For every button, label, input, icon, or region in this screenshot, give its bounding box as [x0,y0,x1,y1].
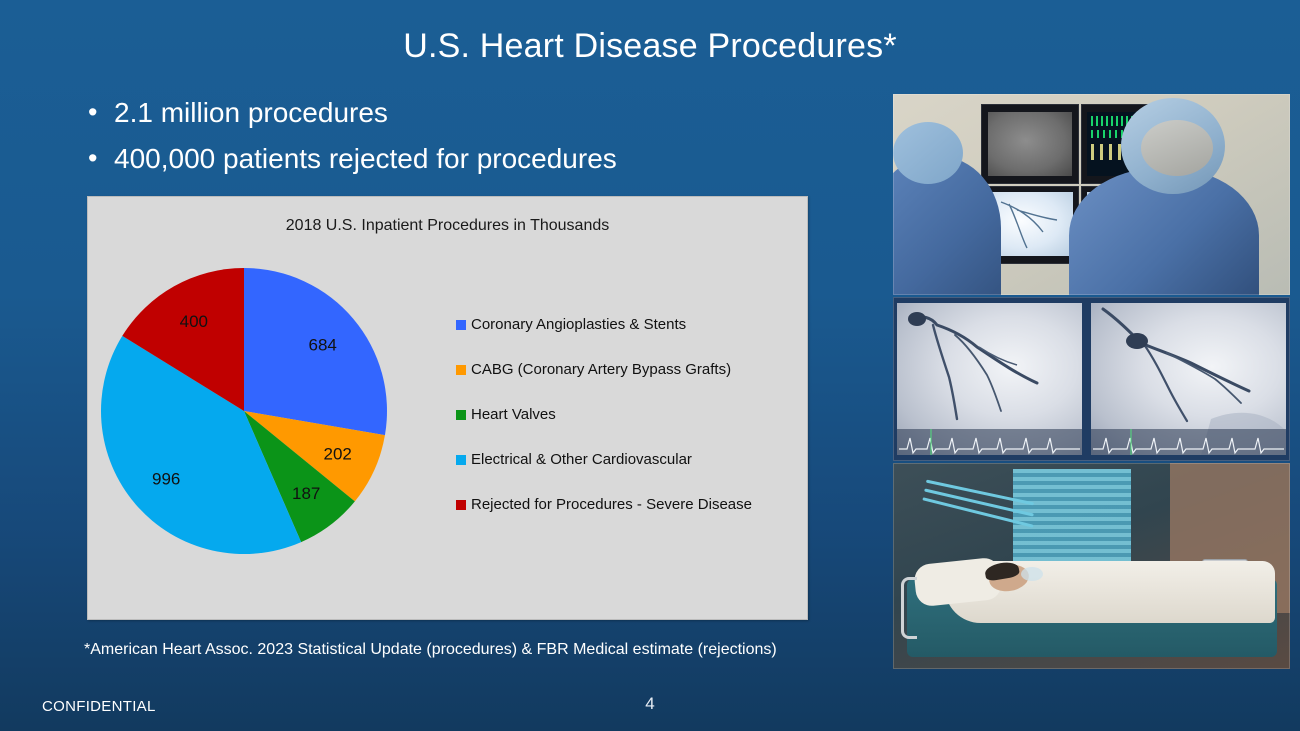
legend-label: CABG (Coronary Artery Bypass Grafts) [471,361,731,378]
oxygen-mask-icon [1021,567,1043,581]
page-number: 4 [0,694,1300,714]
chart-footnote: *American Heart Assoc. 2023 Statistical … [84,641,777,659]
ecg-waveform-icon [1091,429,1286,455]
legend-swatch-icon [456,500,466,510]
chart-legend: Coronary Angioplasties & Stents CABG (Co… [456,302,801,527]
angiogram-left [897,303,1082,455]
legend-item: Heart Valves [456,392,801,437]
legend-swatch-icon [456,455,466,465]
page-title: U.S. Heart Disease Procedures* [0,27,1300,66]
legend-swatch-icon [456,320,466,330]
bullet-dot-icon: • [88,142,114,174]
legend-label: Electrical & Other Cardiovascular [471,451,692,468]
angiogram-right [1091,303,1286,455]
list-item: • 2.1 million procedures [88,96,848,130]
pie-data-label: 996 [152,470,180,489]
coronary-angiograms-image [893,297,1290,461]
bullet-text: 400,000 patients rejected for procedures [114,142,617,176]
bullet-list: • 2.1 million procedures • 400,000 patie… [88,96,848,188]
legend-item: Coronary Angioplasties & Stents [456,302,801,347]
legend-item: Rejected for Procedures - Severe Disease [456,482,801,527]
hospital-patient-image [893,463,1290,669]
photo-column [893,94,1290,669]
chart-title: 2018 U.S. Inpatient Procedures in Thousa… [88,217,807,235]
ecg-waveform-icon [897,429,1082,455]
legend-swatch-icon [456,365,466,375]
list-item: • 400,000 patients rejected for procedur… [88,142,848,176]
legend-item: Electrical & Other Cardiovascular [456,437,801,482]
legend-label: Coronary Angioplasties & Stents [471,316,686,333]
legend-label: Rejected for Procedures - Severe Disease [471,496,752,513]
pie-data-label: 202 [324,445,352,464]
pie-chart-svg: 684202187996400 [96,245,426,585]
legend-item: CABG (Coronary Artery Bypass Grafts) [456,347,801,392]
legend-swatch-icon [456,410,466,420]
pie-chart: 684202187996400 [96,245,426,585]
pie-slices [101,268,387,554]
pie-data-label: 400 [180,312,208,331]
pie-data-label: 684 [309,336,337,355]
cath-lab-team-image [893,94,1290,295]
bullet-text: 2.1 million procedures [114,96,388,130]
pie-data-label: 187 [292,484,320,503]
bullet-dot-icon: • [88,96,114,128]
pie-chart-panel: 2018 U.S. Inpatient Procedures in Thousa… [87,196,808,620]
legend-label: Heart Valves [471,406,556,423]
